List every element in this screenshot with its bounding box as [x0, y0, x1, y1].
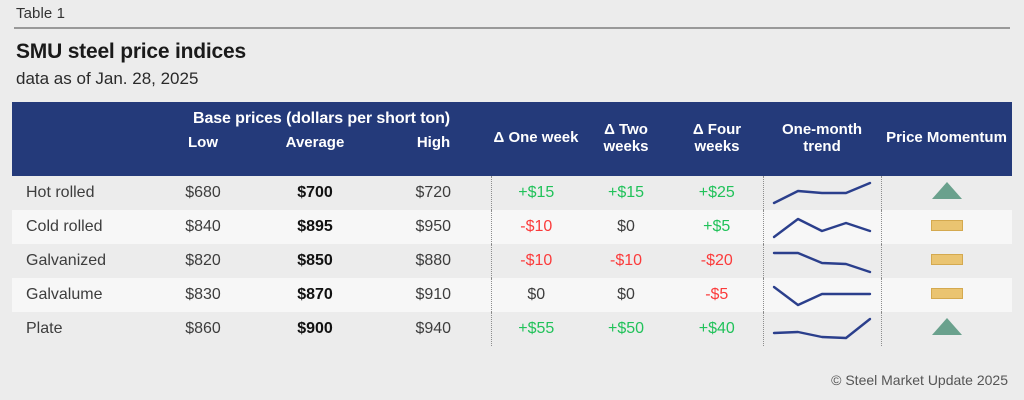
cell-trend-sparkline [763, 312, 881, 346]
header-divider [14, 27, 1010, 29]
table-figure: Steel Market Update Table 1 SMU steel pr… [0, 0, 1024, 400]
cell-average: $870 [254, 278, 376, 312]
momentum-flat-bar-icon [931, 254, 963, 265]
header-low: Low [152, 132, 254, 176]
cell-delta-two-weeks: +$50 [581, 312, 671, 346]
cell-delta-two-weeks: $0 [581, 210, 671, 244]
cell-high: $880 [376, 244, 491, 278]
cell-trend-sparkline [763, 278, 881, 312]
sparkline-icon [770, 279, 874, 311]
cell-delta-one-week: -$10 [491, 210, 581, 244]
table-row: Cold rolled$840$895$950-$10$0+$5 [12, 210, 1012, 244]
sparkline-icon [770, 211, 874, 243]
header-one-month-trend: One-month trend [763, 102, 881, 176]
momentum-up-triangle-icon [932, 318, 962, 335]
momentum-flat-bar-icon [931, 220, 963, 231]
cell-price-momentum [881, 278, 1012, 312]
cell-average: $900 [254, 312, 376, 346]
cell-price-momentum [881, 244, 1012, 278]
cell-high: $720 [376, 176, 491, 210]
cell-average: $895 [254, 210, 376, 244]
copyright-footer: © Steel Market Update 2025 [831, 372, 1008, 388]
cell-product: Plate [12, 312, 152, 346]
cell-delta-four-weeks: -$20 [671, 244, 763, 278]
cell-low: $830 [152, 278, 254, 312]
cell-trend-sparkline [763, 210, 881, 244]
cell-low: $840 [152, 210, 254, 244]
momentum-up-triangle-icon [932, 182, 962, 199]
cell-delta-one-week: $0 [491, 278, 581, 312]
cell-delta-four-weeks: +$5 [671, 210, 763, 244]
table-row: Plate$860$900$940+$55+$50+$40 [12, 312, 1012, 346]
header-delta-four-weeks: Δ Four weeks [671, 102, 763, 176]
cell-delta-four-weeks: +$25 [671, 176, 763, 210]
cell-high: $910 [376, 278, 491, 312]
cell-price-momentum [881, 176, 1012, 210]
momentum-flat-bar-icon [931, 288, 963, 299]
table-header: Base prices (dollars per short ton) Δ On… [12, 102, 1012, 176]
cell-delta-one-week: -$10 [491, 244, 581, 278]
header-group-row: Base prices (dollars per short ton) Δ On… [12, 102, 1012, 132]
cell-delta-four-weeks: -$5 [671, 278, 763, 312]
header-average: Average [254, 132, 376, 176]
cell-low: $820 [152, 244, 254, 278]
table-row: Galvanized$820$850$880-$10-$10-$20 [12, 244, 1012, 278]
cell-delta-one-week: +$15 [491, 176, 581, 210]
cell-trend-sparkline [763, 244, 881, 278]
page-title: SMU steel price indices [16, 40, 246, 64]
table-label: Table 1 [16, 5, 65, 22]
cell-price-momentum [881, 210, 1012, 244]
cell-product: Cold rolled [12, 210, 152, 244]
sparkline-icon [770, 177, 874, 209]
table-row: Galvalume$830$870$910$0$0-$5 [12, 278, 1012, 312]
header-product-blank [12, 102, 152, 132]
cell-delta-four-weeks: +$40 [671, 312, 763, 346]
cell-low: $680 [152, 176, 254, 210]
cell-delta-two-weeks: $0 [581, 278, 671, 312]
header-delta-one-week: Δ One week [491, 102, 581, 176]
table-row: Hot rolled$680$700$720+$15+$15+$25 [12, 176, 1012, 210]
cell-high: $940 [376, 312, 491, 346]
header-group-base-prices: Base prices (dollars per short ton) [152, 102, 491, 132]
cell-delta-two-weeks: -$10 [581, 244, 671, 278]
header-high: High [376, 132, 491, 176]
table-body: Hot rolled$680$700$720+$15+$15+$25Cold r… [12, 176, 1012, 346]
price-indices-table: Base prices (dollars per short ton) Δ On… [12, 102, 1012, 346]
cell-product: Galvanized [12, 244, 152, 278]
cell-delta-one-week: +$55 [491, 312, 581, 346]
cell-delta-two-weeks: +$15 [581, 176, 671, 210]
cell-product: Hot rolled [12, 176, 152, 210]
sparkline-icon [770, 313, 874, 345]
cell-trend-sparkline [763, 176, 881, 210]
cell-price-momentum [881, 312, 1012, 346]
header-delta-two-weeks: Δ Two weeks [581, 102, 671, 176]
cell-average: $850 [254, 244, 376, 278]
page-subtitle: data as of Jan. 28, 2025 [16, 69, 198, 89]
cell-product: Galvalume [12, 278, 152, 312]
cell-high: $950 [376, 210, 491, 244]
cell-average: $700 [254, 176, 376, 210]
header-price-momentum: Price Momentum [881, 102, 1012, 176]
header-product [12, 132, 152, 176]
cell-low: $860 [152, 312, 254, 346]
sparkline-icon [770, 245, 874, 277]
